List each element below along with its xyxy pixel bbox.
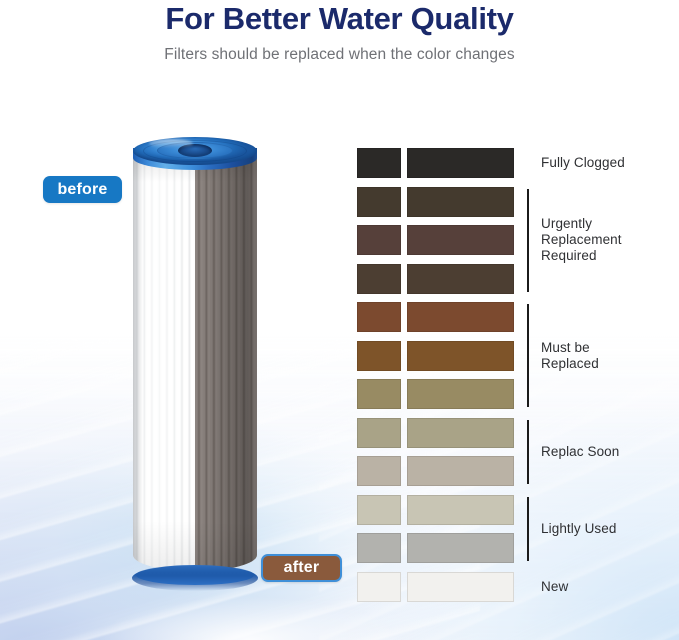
group-label: Replac Soon [541, 444, 619, 460]
color-swatch-wide [407, 148, 514, 178]
filter-top-cap [133, 137, 257, 177]
poster-canvas: For Better Water Quality Filters should … [0, 0, 679, 640]
swatch-row [357, 456, 515, 486]
color-swatch-small [357, 572, 401, 602]
color-swatch-small [357, 302, 401, 332]
swatch-row [357, 302, 515, 332]
color-condition-chart: Fully CloggedUrgently Replacement Requir… [357, 148, 679, 594]
group-label: Lightly Used [541, 521, 617, 537]
swatch-row [357, 572, 515, 602]
color-swatch-small [357, 225, 401, 255]
color-swatch-small [357, 495, 401, 525]
group-label: Urgently Replacement Required [541, 216, 622, 264]
group-bracket [527, 497, 529, 562]
color-swatch-wide [407, 456, 514, 486]
color-swatch-wide [407, 264, 514, 294]
water-filter-cartridge [133, 137, 257, 585]
filter-vertical-shading [133, 153, 257, 571]
swatch-row [357, 264, 515, 294]
color-swatch-wide [407, 495, 514, 525]
page-title: For Better Water Quality [0, 0, 679, 34]
color-swatch-small [357, 533, 401, 563]
swatch-row [357, 418, 515, 448]
badge-before: before [43, 176, 122, 203]
group-label: New [541, 579, 568, 595]
color-swatch-wide [407, 187, 514, 217]
swatch-row [357, 379, 515, 409]
group-bracket [527, 189, 529, 292]
swatch-row [357, 341, 515, 371]
color-swatch-wide [407, 418, 514, 448]
group-label: Fully Clogged [541, 155, 625, 171]
color-swatch-wide [407, 533, 514, 563]
filter-cap-highlight [149, 139, 193, 148]
color-swatch-wide [407, 302, 514, 332]
swatch-row [357, 225, 515, 255]
swatch-row [357, 495, 515, 525]
badge-after: after [261, 554, 342, 582]
color-swatch-small [357, 264, 401, 294]
color-swatch-small [357, 187, 401, 217]
group-bracket [527, 304, 529, 407]
color-swatch-small [357, 456, 401, 486]
color-swatch-small [357, 148, 401, 178]
header: For Better Water Quality Filters should … [0, 0, 679, 64]
color-swatch-small [357, 418, 401, 448]
page-subtitle: Filters should be replaced when the colo… [0, 46, 679, 64]
color-swatch-wide [407, 572, 514, 602]
color-swatch-small [357, 379, 401, 409]
badge-after-label: after [284, 560, 320, 576]
filter-pleated-body [133, 153, 257, 571]
group-label: Must be Replaced [541, 340, 599, 372]
color-swatch-wide [407, 225, 514, 255]
color-swatch-wide [407, 379, 514, 409]
swatch-row [357, 187, 515, 217]
badge-before-label: before [57, 182, 107, 198]
swatch-row [357, 533, 515, 563]
swatch-row [357, 148, 515, 178]
group-bracket [527, 420, 529, 485]
color-swatch-small [357, 341, 401, 371]
color-swatch-wide [407, 341, 514, 371]
